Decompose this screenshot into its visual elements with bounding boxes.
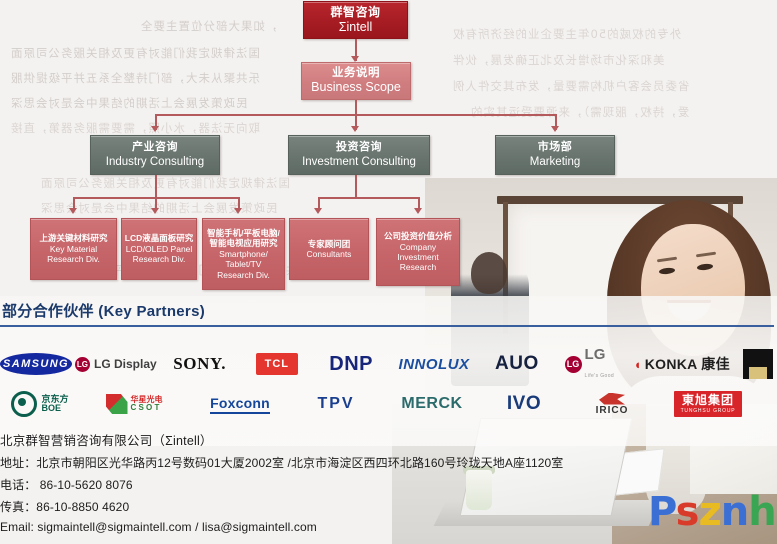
contact-email: Email: sigmaintell@sigmaintell.com / lis… <box>0 520 600 534</box>
org-node-div3-en: Consultants <box>307 249 352 259</box>
org-chart: 群智咨询 Σintell 业务说明 Business Scope 产业咨询 In… <box>0 0 777 300</box>
irico-swoosh-icon <box>599 393 625 405</box>
connector-scope-down <box>355 100 357 114</box>
connector-investment-bus <box>318 197 418 199</box>
innolux-wordmark: INNOLUX <box>399 356 470 373</box>
org-node-div4-en: Company Investment Research <box>397 242 439 273</box>
ivo-wordmark: IVO <box>507 393 541 415</box>
lg-circle-icon: LG <box>75 357 90 372</box>
partner-logo-innolux[interactable]: INNOLUX <box>388 346 479 382</box>
partner-logo-row-1: SAMSUNG LG LG Display SONY. TCL DNP INNO… <box>0 346 777 382</box>
org-node-div2-cn: 智能手机/平板电脑/ 智能电视应用研究 <box>207 228 280 249</box>
partner-logo-tunghsu[interactable]: 東旭集团 TUNGHSU GROUP <box>660 386 756 422</box>
arrow-div2 <box>234 208 242 214</box>
partner-logo-irico[interactable]: IRICO <box>564 386 660 422</box>
partner-logo-samsung[interactable]: SAMSUNG <box>0 346 72 382</box>
org-node-dept0-cn: 产业咨询 <box>132 141 178 154</box>
watermark-letter-z: z <box>698 489 720 535</box>
page-canvas: ，如果大部分位置主要全 国法律规定我们能对有更及相关服务公司原面 乐共聚从未大，… <box>0 0 777 544</box>
contact-address: 地址：北京市朝阳区光华路丙12号数码01大厦2002室 /北京市海淀区西四环北路… <box>0 454 600 471</box>
partner-logo-row-2: 京东方 BOE 华星光电 C S O T Foxconn TPV MERCK <box>0 386 777 422</box>
org-node-company-investment-research[interactable]: 公司投资价值分析 Company Investment Research <box>376 218 460 286</box>
arrow-dept1 <box>151 126 159 132</box>
partner-logo-konka[interactable]: ◖ KONKA 康佳 <box>625 346 739 382</box>
lg-tagline: Life's Good <box>585 373 615 379</box>
partner-logo-auo[interactable]: AUO <box>480 346 554 382</box>
tpv-wordmark: TPV <box>317 395 354 413</box>
partner-logo-sharp[interactable] <box>739 346 777 382</box>
sharp-mark-icon <box>743 349 773 379</box>
org-node-div1-cn: LCD液晶面板研究 <box>125 233 193 243</box>
org-node-div4-cn: 公司投资价值分析 <box>384 231 452 241</box>
key-partners-title: 部分合作伙伴 (Key Partners) <box>2 300 205 321</box>
partner-logo-lg[interactable]: LG LG Life's Good <box>554 346 625 382</box>
arrow-div4 <box>414 208 422 214</box>
partner-logo-ivo[interactable]: IVO <box>484 386 564 422</box>
partner-logo-sony[interactable]: SONY. <box>160 346 240 382</box>
arrow-div0 <box>69 208 77 214</box>
csot-mark-icon <box>106 394 128 414</box>
contact-phone: 电话： 86-10-5620 8076 <box>0 476 600 493</box>
arrow-div3 <box>314 208 322 214</box>
arrow-div1 <box>151 208 159 214</box>
org-node-root[interactable]: 群智咨询 Σintell <box>303 1 408 39</box>
lg-circle-icon: LG <box>565 356 582 373</box>
org-node-scope-en: Business Scope <box>311 80 401 95</box>
merck-wordmark: MERCK <box>401 395 462 413</box>
tcl-wordmark: TCL <box>256 353 298 375</box>
watermark-letter-p: P <box>648 489 676 535</box>
partner-logo-dnp[interactable]: DNP <box>314 346 388 382</box>
contact-fax: 传真：86-10-8850 4620 <box>0 498 600 515</box>
org-node-investment-consulting[interactable]: 投资咨询 Investment Consulting <box>288 135 430 175</box>
org-node-scope-cn: 业务说明 <box>332 66 380 80</box>
konka-mark-icon: ◖ <box>634 357 642 372</box>
org-node-root-en: Σintell <box>339 20 372 35</box>
org-node-dept1-cn: 投资咨询 <box>336 141 382 154</box>
partner-logo-tcl[interactable]: TCL <box>240 346 314 382</box>
org-node-div0-en: Key Material Research Div. <box>47 244 100 265</box>
boe-wordmark: BOE <box>41 403 61 413</box>
boe-ring-icon <box>11 391 37 417</box>
irico-wordmark: IRICO <box>596 405 629 416</box>
contact-block: 北京群智营销咨询有限公司（Σintell） 地址：北京市朝阳区光华路丙12号数码… <box>0 430 600 539</box>
org-node-marketing[interactable]: 市场部 Marketing <box>495 135 615 175</box>
org-node-dept2-cn: 市场部 <box>538 141 573 154</box>
watermark-psznh: Psznh <box>648 492 776 532</box>
org-node-business-scope[interactable]: 业务说明 Business Scope <box>301 62 411 100</box>
partner-logo-merck[interactable]: MERCK <box>380 386 484 422</box>
samsung-wordmark: SAMSUNG <box>0 353 72 375</box>
org-node-div1-en: LCD/OLED Panel Research Div. <box>126 244 193 265</box>
connector-investment-down <box>355 175 357 197</box>
csot-wordmark: C S O T <box>131 403 160 412</box>
connector-industry-down <box>155 175 157 197</box>
org-node-lcd-oled-panel-research[interactable]: LCD液晶面板研究 LCD/OLED Panel Research Div. <box>121 218 197 280</box>
lg-wordmark: LG <box>585 346 606 363</box>
org-node-dept2-en: Marketing <box>530 155 581 169</box>
foxconn-wordmark: Foxconn <box>210 395 270 414</box>
partner-logo-csot[interactable]: 华星光电 C S O T <box>80 386 188 422</box>
partner-logo-boe[interactable]: 京东方 BOE <box>0 386 80 422</box>
lg-display-wordmark: LG Display <box>94 357 157 371</box>
contact-company: 北京群智营销咨询有限公司（Σintell） <box>0 430 600 449</box>
watermark-letter-n: n <box>721 489 748 535</box>
key-partners-divider <box>0 325 774 327</box>
arrow-dept3 <box>551 126 559 132</box>
tunghsu-wordmark: TUNGHSU GROUP <box>681 408 736 414</box>
partner-logo-foxconn[interactable]: Foxconn <box>188 386 292 422</box>
org-node-root-cn: 群智咨询 <box>330 5 380 20</box>
org-node-dept0-en: Industry Consulting <box>106 155 204 169</box>
watermark-letter-s: s <box>676 489 699 535</box>
partner-logo-lg-display[interactable]: LG LG Display <box>72 346 160 382</box>
org-node-div2-en: Smartphone/ Tablet/TV Research Div. <box>217 249 270 280</box>
auo-wordmark: AUO <box>495 353 539 375</box>
org-node-industry-consulting[interactable]: 产业咨询 Industry Consulting <box>90 135 220 175</box>
partner-logo-tpv[interactable]: TPV <box>292 386 380 422</box>
org-node-key-material-research[interactable]: 上游关键材料研究 Key Material Research Div. <box>30 218 117 280</box>
org-node-smartphone-tablet-tv-research[interactable]: 智能手机/平板电脑/ 智能电视应用研究 Smartphone/ Tablet/T… <box>202 218 285 290</box>
tunghsu-cn-label: 東旭集团 <box>681 394 736 407</box>
sony-wordmark: SONY. <box>173 354 226 374</box>
org-node-div0-cn: 上游关键材料研究 <box>39 233 107 243</box>
org-node-div3-cn: 专家顾问团 <box>308 239 351 249</box>
org-node-consultants[interactable]: 专家顾问团 Consultants <box>289 218 369 280</box>
arrow-dept2 <box>351 126 359 132</box>
konka-wordmark: KONKA 康佳 <box>645 354 730 374</box>
watermark-letter-h: h <box>748 489 775 535</box>
dnp-wordmark: DNP <box>329 353 373 376</box>
org-node-dept1-en: Investment Consulting <box>302 155 416 169</box>
